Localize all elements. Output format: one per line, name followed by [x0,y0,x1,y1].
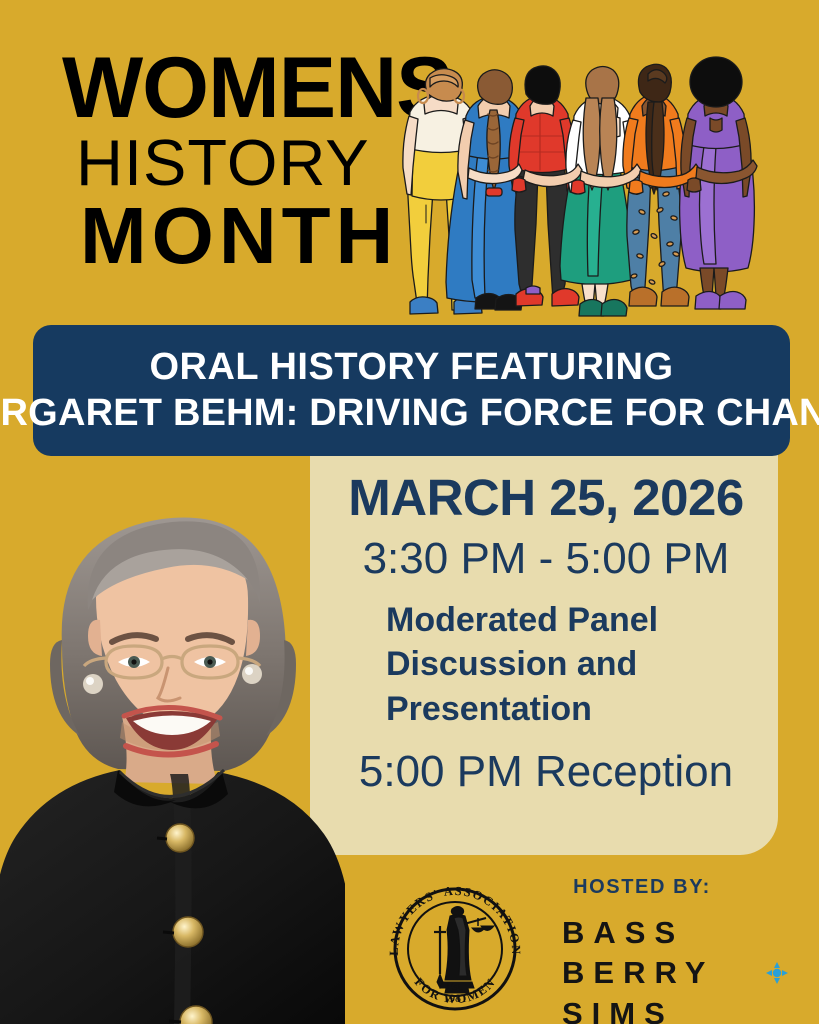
seal-est-year: 1981 [443,991,467,1005]
event-title-banner: ORAL HISTORY FEATURING MARGARET BEHM: DR… [33,325,790,456]
event-description-line-1: Moderated Panel [386,598,764,643]
sponsor-line-2: BERRY [562,953,762,993]
compass-diamond-icon [766,962,788,984]
banner-line-2: MARGARET BEHM: DRIVING FORCE FOR CHANGE [0,392,819,435]
lawyers-association-for-women-seal: LAWYERS' ASSOCIATION FOR WOMEN [380,874,530,1024]
sponsor-line-2-text: BERRY [562,955,714,990]
banner-line-1: ORAL HISTORY FEATURING [149,346,673,389]
event-description-line-3: Presentation [386,687,764,732]
six-women-illustration [396,52,811,322]
event-reception: 5:00 PM Reception [328,748,764,796]
hosted-by-label: HOSTED BY: [562,876,722,899]
page-title: WOMENS HISTORY MONTH [62,52,402,274]
sponsor-line-3: SIMS [562,994,762,1024]
event-date: MARCH 25, 2026 [328,471,764,525]
headline-line-womens: WOMENS [62,52,402,126]
headline-line-month: MONTH [62,198,402,274]
sponsor-line-1: BASS [562,913,762,953]
event-description: Moderated Panel Discussion and Presentat… [328,598,764,733]
headline-line-history: HISTORY [62,130,402,196]
speaker-portrait [0,470,345,1024]
event-description-line-2: Discussion and [386,642,764,687]
hosted-by-block: HOSTED BY: BASS BERRY SIMS [562,876,762,1024]
event-details-panel: MARCH 25, 2026 3:30 PM - 5:00 PM Moderat… [310,455,778,855]
bass-berry-sims-logo: BASS BERRY SIMS [562,913,762,1024]
event-poster: WOMENS HISTORY MONTH [0,0,819,1024]
event-time-range: 3:30 PM - 5:00 PM [328,531,764,586]
